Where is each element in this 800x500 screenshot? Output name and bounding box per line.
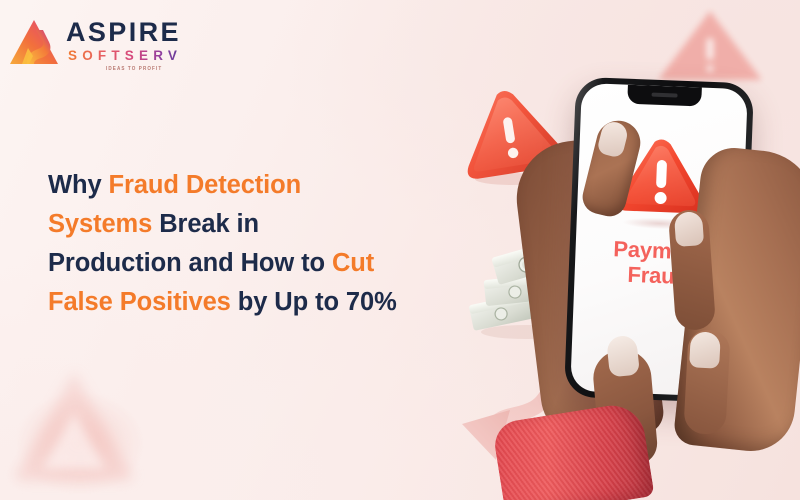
headline-seg: by Up to 70%: [231, 288, 397, 316]
logo-sub-name: SOFTSERV: [68, 49, 182, 63]
headline-line-1: Why Fraud Detection: [48, 166, 468, 205]
hero-illustration: Payment Fraud: [420, 0, 800, 500]
phone-notch: [627, 85, 702, 107]
right-middle-fingernail: [689, 331, 721, 369]
headline-seg: Why: [48, 171, 109, 199]
headline-seg: Production and How to: [48, 249, 332, 277]
headline-seg-accent: Fraud Detection: [109, 171, 302, 199]
headline-line-3: Production and How to Cut: [48, 244, 468, 283]
page-title: Why Fraud Detection Systems Break in Pro…: [48, 166, 468, 322]
banner-canvas: ASPIRE SOFTSERV IDEAS TO PROFIT Why Frau…: [0, 0, 800, 500]
headline-seg: Break in: [152, 210, 259, 238]
faint-triangle-watermark: [0, 355, 170, 500]
headline-seg-accent: False Positives: [48, 288, 231, 316]
headline-seg-accent: Systems: [48, 210, 152, 238]
red-sleeve: [491, 401, 654, 500]
logo-name: ASPIRE: [66, 19, 182, 46]
aspire-triangle-logo: [8, 16, 60, 70]
brand-logo[interactable]: ASPIRE SOFTSERV IDEAS TO PROFIT: [8, 14, 198, 76]
headline-line-2: Systems Break in: [48, 205, 468, 244]
headline-seg-accent: Cut: [332, 249, 374, 277]
headline-line-4: False Positives by Up to 70%: [48, 283, 468, 322]
right-index-fingernail: [674, 211, 704, 247]
logo-tagline: IDEAS TO PROFIT: [106, 65, 182, 71]
logo-wordmark: ASPIRE SOFTSERV IDEAS TO PROFIT: [66, 14, 182, 71]
